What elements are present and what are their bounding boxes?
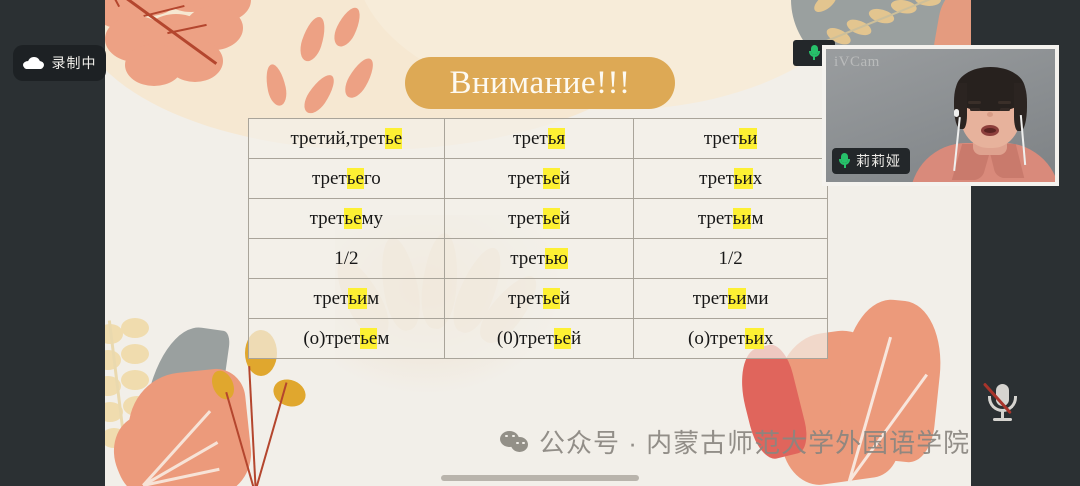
highlight: ье	[554, 328, 571, 349]
highlight: ьи	[739, 128, 758, 149]
table-cell: (о)третьем	[249, 319, 445, 359]
table-cell: третьей	[444, 159, 634, 199]
microphone-muted-icon[interactable]	[975, 378, 1029, 430]
table-cell: 1/2	[634, 239, 828, 279]
table-cell: третий,третье	[249, 119, 445, 159]
horizontal-scrollbar-thumb[interactable]	[441, 475, 639, 481]
highlight: ьи	[733, 208, 752, 229]
table-row: третьего третьей третьих	[249, 159, 828, 199]
declension-table: третий,третье третья третьи третьего тре…	[248, 118, 828, 359]
table-cell: третьим	[249, 279, 445, 319]
table-cell: третьей	[444, 199, 634, 239]
table-cell: третьими	[634, 279, 828, 319]
highlight: ье	[347, 168, 364, 189]
recording-badge[interactable]: 录制中	[13, 45, 106, 81]
table-row: третьим третьей третьими	[249, 279, 828, 319]
speaker-name-label: 莉莉娅	[856, 151, 901, 171]
table-cell: третьего	[249, 159, 445, 199]
microphone-icon	[809, 45, 820, 61]
page-title: Внимание!!!	[449, 67, 630, 100]
decorative-leaf-coral	[105, 0, 285, 96]
participant-video-tile[interactable]: iVCam 莉莉娅	[822, 45, 1059, 186]
recording-label: 录制中	[52, 53, 97, 73]
table-cell: третьи	[634, 119, 828, 159]
table-cell: третьему	[249, 199, 445, 239]
watermark-text: 公众号 · 内蒙古师范大学外国语学院	[539, 423, 970, 460]
table-cell: третьей	[444, 279, 634, 319]
highlight: ьи	[734, 168, 753, 189]
table-row: 1/2 третью 1/2	[249, 239, 828, 279]
table-row: третьему третьей третьим	[249, 199, 828, 239]
highlight: ье	[543, 168, 560, 189]
table-cell: третьим	[634, 199, 828, 239]
slide-title-banner: Внимание!!!	[405, 57, 675, 109]
table-cell: 1/2	[249, 239, 445, 279]
speaker-name-chip[interactable]: 莉莉娅	[832, 148, 910, 174]
highlight: ьи	[348, 288, 367, 309]
highlight: ье	[385, 128, 402, 149]
highlight: ья	[548, 128, 565, 149]
wechat-icon	[500, 430, 530, 454]
highlight: ье	[360, 328, 377, 349]
table-row: третий,третье третья третьи	[249, 119, 828, 159]
table-cell: третью	[444, 239, 634, 279]
table-cell: (0)третьей	[444, 319, 634, 359]
horizontal-scrollbar-track[interactable]	[105, 468, 971, 486]
table-row: (о)третьем (0)третьей (о)третьих	[249, 319, 828, 359]
ivcam-watermark: iVCam	[834, 54, 880, 71]
highlight: ьи	[745, 328, 764, 349]
slide-watermark: 公众号 · 内蒙古师范大学外国语学院	[500, 423, 970, 460]
table-body: третий,третье третья третьи третьего тре…	[249, 119, 828, 359]
highlight: ье	[543, 208, 560, 229]
highlight: ье	[543, 288, 560, 309]
highlight: ье	[344, 208, 361, 229]
table-cell: третья	[444, 119, 634, 159]
highlight: ьи	[728, 288, 747, 309]
cloud-icon	[23, 57, 44, 69]
microphone-icon	[839, 153, 850, 169]
table-cell: третьих	[634, 159, 828, 199]
meeting-screen: Внимание!!! третий,третье третья третьи …	[0, 0, 1080, 486]
table-cell: (о)третьих	[634, 319, 828, 359]
highlight: ью	[545, 248, 568, 269]
